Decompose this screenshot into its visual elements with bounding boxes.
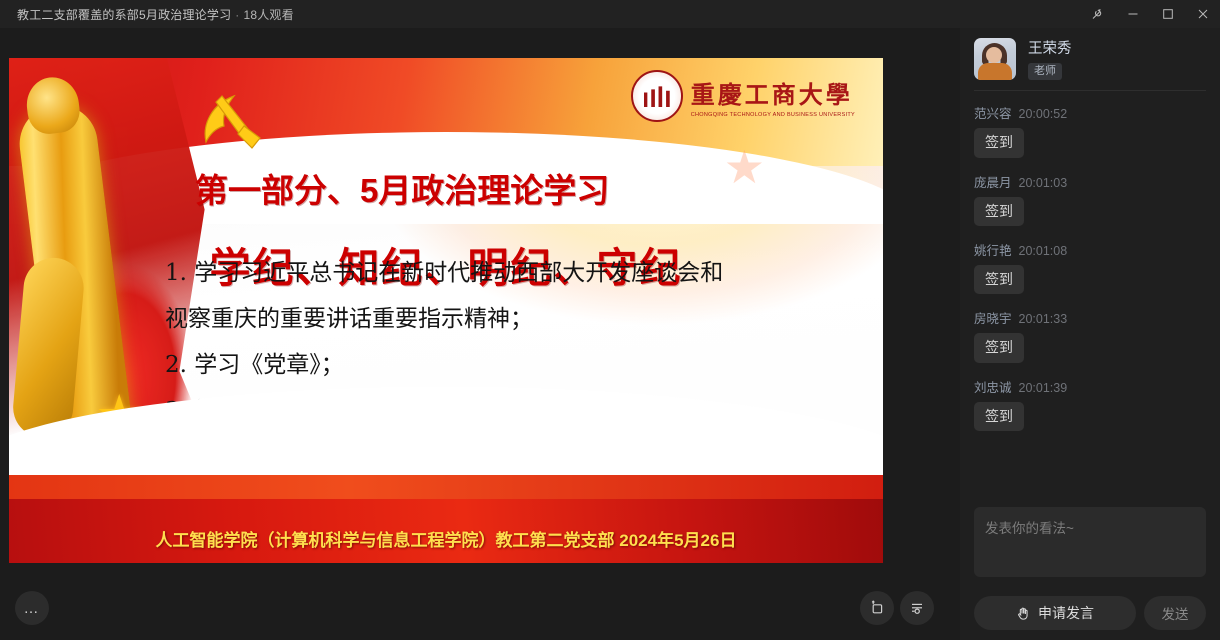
chat-sender-name: 范兴容 [974,103,1012,122]
chat-timestamp: 20:01:03 [1019,176,1068,190]
speaker-meta: 王荣秀 老师 [1028,37,1072,80]
avatar-face [986,47,1002,63]
minimize-icon [1127,8,1139,20]
chat-message-text: 签到 [974,128,1024,157]
university-name-cn: 重慶工商大學 [691,75,855,110]
session-title: 教工二支部覆盖的系部5月政治理论学习 [17,8,231,22]
chat-sender-name: 房晓宇 [974,308,1012,327]
university-name-en: CHONGQING TECHNOLOGY AND BUSINESS UNIVER… [691,112,855,118]
avatar-body [978,63,1012,80]
chat-list[interactable]: 范兴容 20:00:52 签到 庞晨月 20:01:03 签到 姚行艳 20 [974,97,1206,507]
chat-timestamp: 20:01:33 [1019,312,1068,326]
minimize-button[interactable] [1115,0,1150,28]
chat-sender-name: 姚行艳 [974,240,1012,259]
chat-timestamp: 20:01:39 [1019,381,1068,395]
university-logo: 重慶工商大學 CHONGQING TECHNOLOGY AND BUSINESS… [631,70,855,122]
request-to-speak-label: 申请发言 [1038,603,1094,623]
viewer-count: 18人观看 [243,8,293,22]
shared-screen-area[interactable]: ★ ★ ★ ★ [9,58,883,563]
chat-message-header: 房晓宇 20:01:33 [974,308,1206,327]
slide-body-line: 视察重庆的重要讲话重要指示精神； [165,296,805,342]
avatar [974,38,1016,80]
hammer-sickle-icon [192,82,268,154]
slide-footer: 人工智能学院（计算机科学与信息工程学院）教工第二党支部 2024年5月26日 [9,526,883,551]
composer: 申请发言 发送 [974,507,1206,640]
settings-button[interactable] [900,591,934,625]
slide-body-line: 1. 学习习近平总书记在新时代推动西部大开发座谈会和 [165,250,805,296]
chat-sender-name: 庞晨月 [974,172,1012,191]
window-body: ★ ★ ★ ★ [0,28,1220,640]
window-title: 教工二支部覆盖的系部5月政治理论学习·18人观看 [17,6,294,23]
stage-toolbar-right [860,591,934,625]
stage-toolbar: … [0,576,960,640]
chat-message: 姚行艳 20:01:08 签到 [974,240,1206,294]
feedback-icon [1091,7,1105,21]
chat-message-header: 范兴容 20:00:52 [974,103,1206,122]
chat-message-text: 签到 [974,333,1024,362]
speaker-name: 王荣秀 [1028,37,1072,58]
university-name-block: 重慶工商大學 CHONGQING TECHNOLOGY AND BUSINESS… [691,75,855,118]
live-class-window: 教工二支部覆盖的系部5月政治理论学习·18人观看 [0,0,1220,640]
chat-message-text: 签到 [974,265,1024,294]
chat-message-header: 刘忠诚 20:01:39 [974,377,1206,396]
chat-message: 庞晨月 20:01:03 签到 [974,172,1206,226]
speaker-card[interactable]: 王荣秀 老师 [974,28,1206,90]
title-bar: 教工二支部覆盖的系部5月政治理论学习·18人观看 [0,0,1220,28]
panel-divider [974,90,1206,91]
close-icon [1197,8,1209,20]
feedback-button[interactable] [1080,0,1115,28]
slide-body-line: 2. 学习《党章》； [165,342,805,388]
chat-message-header: 姚行艳 20:01:08 [974,240,1206,259]
background-star-decoration: ★ [724,144,765,190]
slide-title: 第一部分、5月政治理论学习 [195,164,609,212]
more-options-icon: … [24,601,41,616]
settings-icon [908,599,926,617]
chat-timestamp: 20:00:52 [1019,107,1068,121]
close-button[interactable] [1185,0,1220,28]
request-to-speak-button[interactable]: 申请发言 [974,596,1136,630]
comment-input[interactable] [974,507,1206,577]
university-badge-glyph [644,85,670,107]
chat-timestamp: 20:01:08 [1019,244,1068,258]
chat-message-text: 签到 [974,402,1024,431]
chat-message: 房晓宇 20:01:33 签到 [974,308,1206,362]
composer-actions: 申请发言 发送 [974,596,1206,630]
window-controls [1080,0,1220,28]
more-options-button[interactable]: … [15,591,49,625]
side-panel: 王荣秀 老师 范兴容 20:00:52 签到 庞晨月 20:01:03 [960,28,1220,640]
raise-hand-icon [1016,606,1031,621]
chat-message-header: 庞晨月 20:01:03 [974,172,1206,191]
chat-message: 范兴容 20:00:52 签到 [974,103,1206,157]
chat-sender-name: 刘忠诚 [974,377,1012,396]
university-badge-icon [631,70,683,122]
chat-message-text: 签到 [974,197,1024,226]
speaker-role-badge: 老师 [1028,63,1062,80]
share-screen-icon [868,599,886,617]
share-screen-button[interactable] [860,591,894,625]
title-separator: · [231,8,243,22]
chat-message: 刘忠诚 20:01:39 签到 [974,377,1206,431]
send-button[interactable]: 发送 [1144,596,1206,630]
presentation-stage: ★ ★ ★ ★ [0,28,960,640]
party-emblem-icon [192,82,268,154]
maximize-icon [1162,8,1174,20]
maximize-button[interactable] [1150,0,1185,28]
slide: ★ ★ ★ ★ [9,58,883,563]
